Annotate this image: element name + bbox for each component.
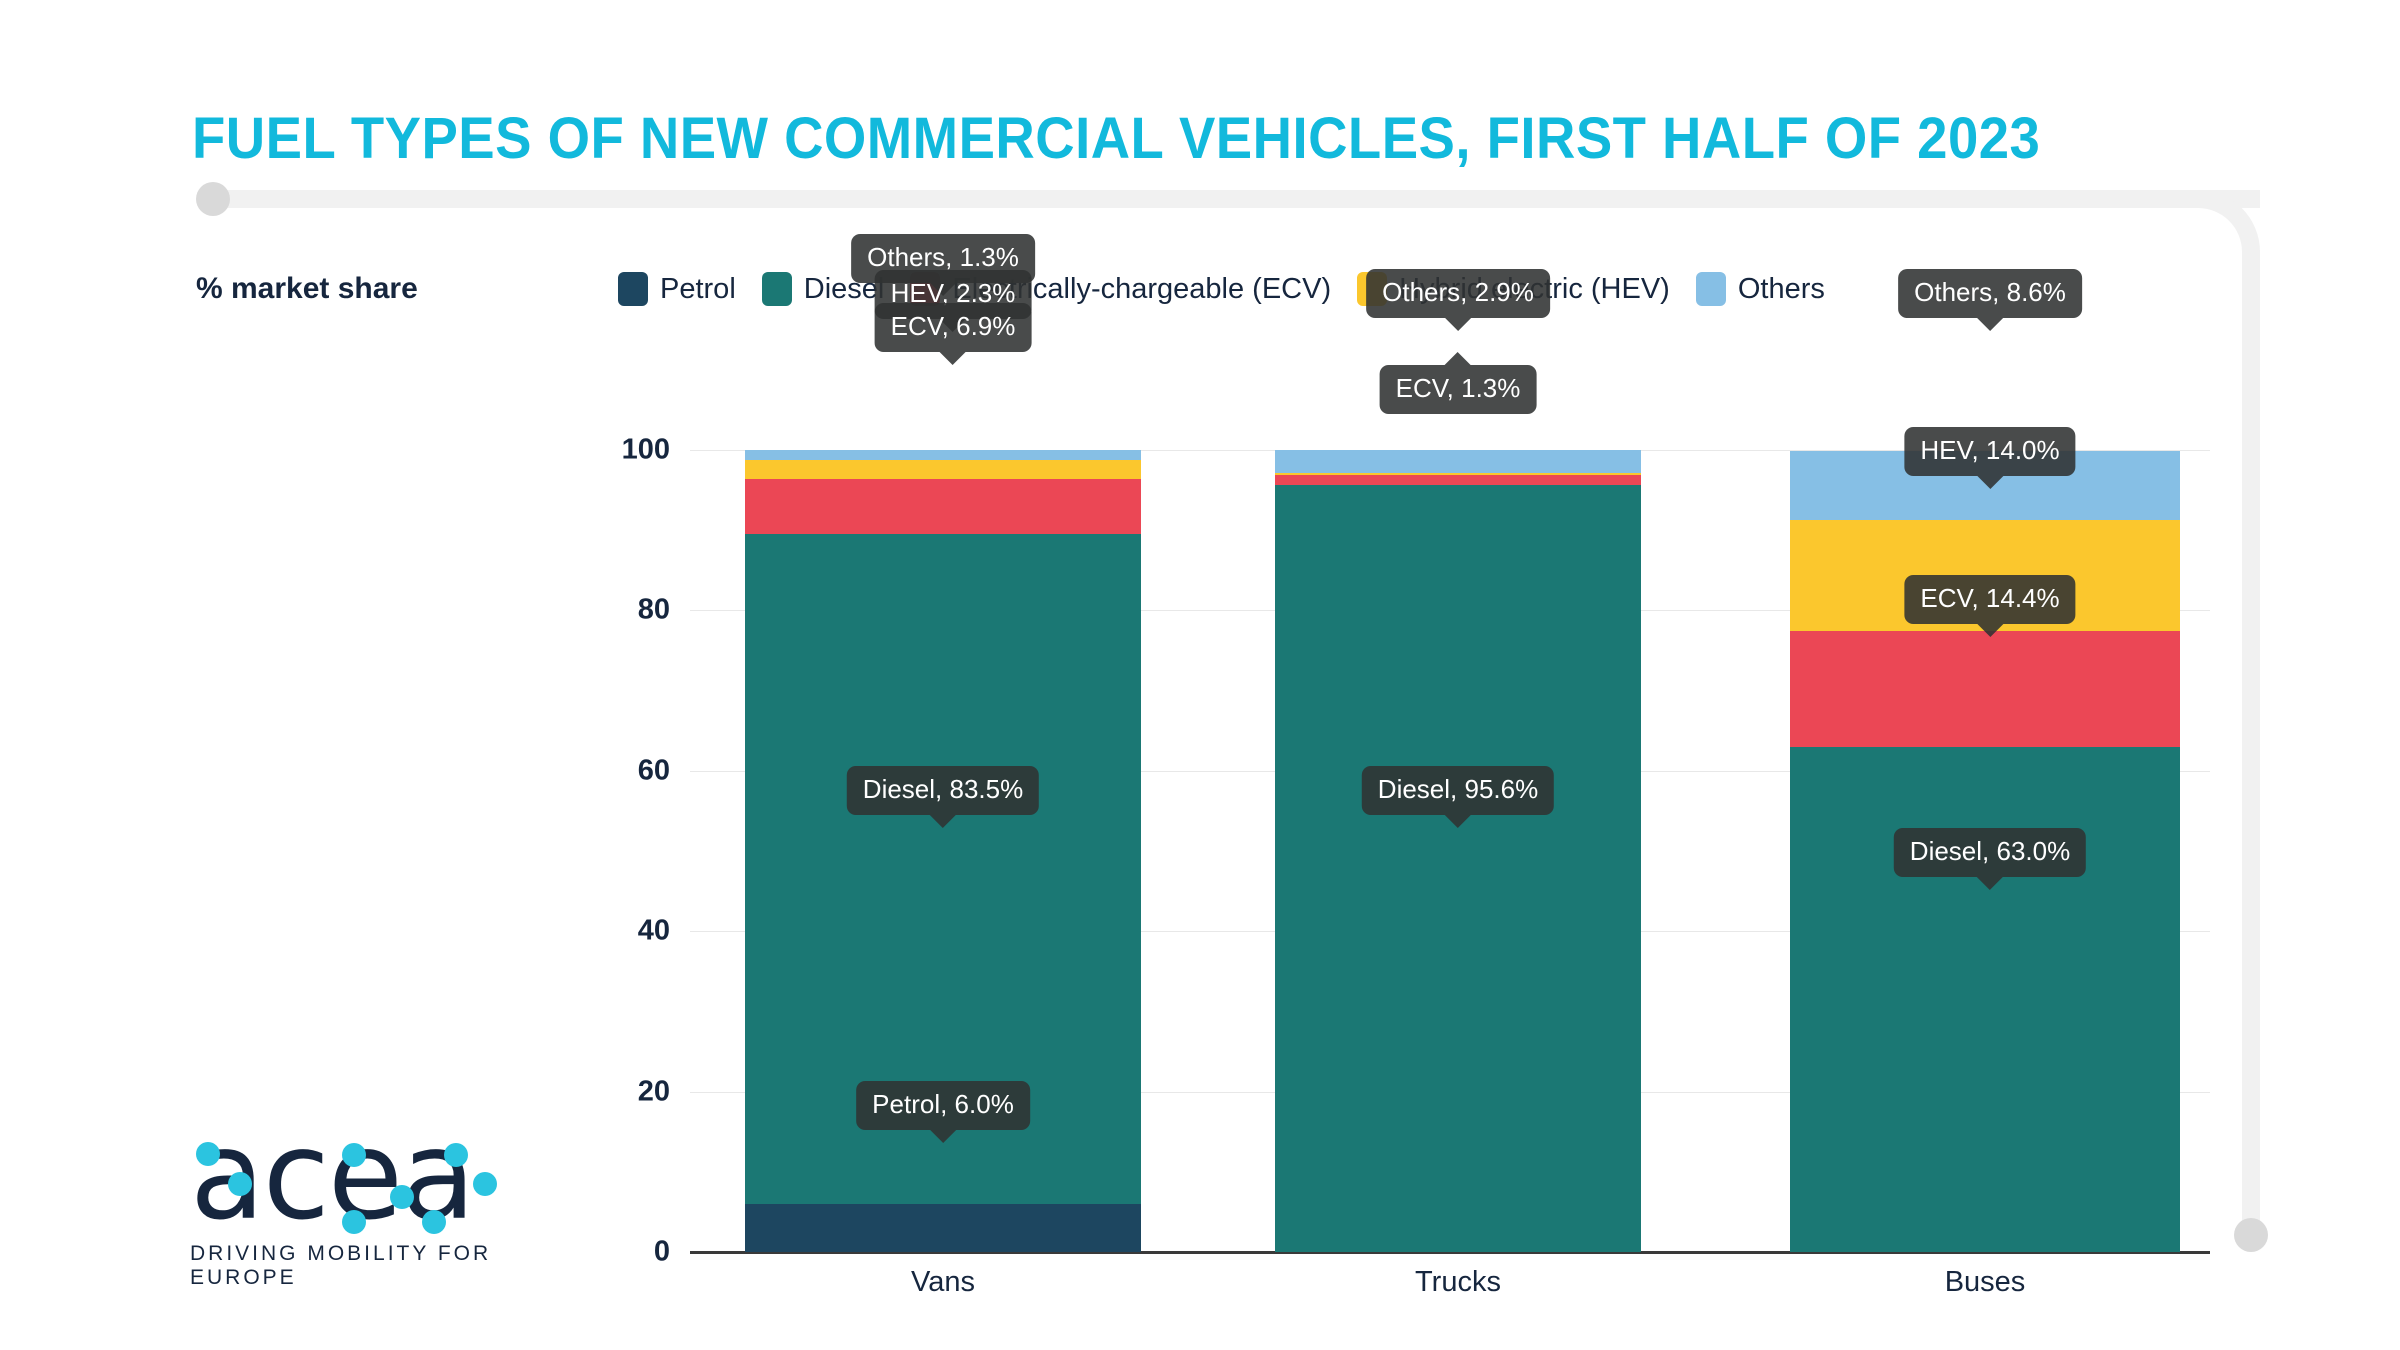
bar-trucks[interactable] bbox=[1275, 450, 1641, 1252]
tooltip-vans-diesel: Diesel, 83.5% bbox=[847, 766, 1039, 815]
bar-segment-buses-ecv[interactable] bbox=[1790, 631, 2180, 746]
legend-label: Others bbox=[1738, 275, 1825, 304]
ytick-label-40: 40 bbox=[560, 915, 670, 948]
ytick-label-0: 0 bbox=[560, 1236, 670, 1269]
tooltip-trucks-others: Others, 2.9% bbox=[1366, 269, 1550, 318]
category-label-vans: Vans bbox=[911, 1266, 975, 1299]
page-title: FUEL TYPES OF NEW COMMERCIAL VEHICLES, F… bbox=[192, 105, 2040, 172]
acea-logo-tagline: DRIVING MOBILITY FOR EUROPE bbox=[190, 1242, 540, 1290]
legend-item-petrol[interactable]: Petrol bbox=[618, 272, 736, 306]
axis-caption: % market share bbox=[196, 272, 418, 306]
tooltip-buses-ecv: ECV, 14.4% bbox=[1904, 575, 2075, 624]
category-label-buses: Buses bbox=[1945, 1266, 2026, 1299]
bar-segment-vans-ecv[interactable] bbox=[745, 479, 1141, 534]
logo-dot-icon bbox=[342, 1143, 366, 1167]
tooltip-trucks-ecv: ECV, 1.3% bbox=[1380, 365, 1537, 414]
logo-dot-icon bbox=[228, 1172, 252, 1196]
plot-area: 100 80 60 40 20 0 bbox=[690, 450, 2210, 1252]
tooltip-vans-petrol: Petrol, 6.0% bbox=[856, 1081, 1030, 1130]
chart-canvas: FUEL TYPES OF NEW COMMERCIAL VEHICLES, F… bbox=[0, 0, 2400, 1350]
decorative-frame-top bbox=[212, 190, 2260, 208]
ytick-label-80: 80 bbox=[560, 594, 670, 627]
ytick-label-100: 100 bbox=[560, 434, 670, 467]
legend-item-others[interactable]: Others bbox=[1696, 272, 1825, 306]
tooltip-buses-others: Others, 8.6% bbox=[1898, 269, 2082, 318]
decorative-dot-right bbox=[2234, 1218, 2268, 1252]
bar-segment-trucks-diesel[interactable] bbox=[1275, 485, 1641, 1252]
bar-segment-trucks-others[interactable] bbox=[1275, 450, 1641, 473]
decorative-dot-left bbox=[196, 182, 230, 216]
logo-dot-icon bbox=[390, 1185, 414, 1209]
decorative-frame-right bbox=[2242, 250, 2260, 1234]
ytick-label-20: 20 bbox=[560, 1075, 670, 1108]
chart-legend: Petrol Diesel Electrically-chargeable (E… bbox=[618, 272, 1851, 306]
bar-segment-vans-others[interactable] bbox=[745, 450, 1141, 460]
category-label-trucks: Trucks bbox=[1415, 1266, 1501, 1299]
logo-dot-icon bbox=[444, 1143, 468, 1167]
bar-segment-vans-petrol[interactable] bbox=[745, 1204, 1141, 1252]
bar-segment-trucks-ecv[interactable] bbox=[1275, 475, 1641, 485]
acea-logo: acea DRIVING MOBILITY FOR EUROPE bbox=[190, 1120, 540, 1290]
logo-dot-icon bbox=[196, 1142, 220, 1166]
legend-label: Petrol bbox=[660, 275, 736, 304]
tooltip-buses-hev: HEV, 14.0% bbox=[1904, 427, 2075, 476]
logo-dot-icon bbox=[473, 1172, 497, 1196]
logo-dot-icon bbox=[342, 1210, 366, 1234]
tooltip-buses-diesel: Diesel, 63.0% bbox=[1894, 828, 2086, 877]
legend-swatch-icon bbox=[618, 272, 648, 306]
legend-swatch-icon bbox=[1696, 272, 1726, 306]
ytick-label-60: 60 bbox=[560, 754, 670, 787]
logo-dot-icon bbox=[422, 1210, 446, 1234]
bar-segment-vans-hev[interactable] bbox=[745, 460, 1141, 478]
legend-swatch-icon bbox=[762, 272, 792, 306]
tooltip-trucks-diesel: Diesel, 95.6% bbox=[1362, 766, 1554, 815]
bar-segment-trucks-hev[interactable] bbox=[1275, 473, 1641, 475]
tooltip-vans-ecv: ECV, 6.9% bbox=[875, 303, 1032, 352]
bar-segment-buses-diesel[interactable] bbox=[1790, 747, 2180, 1252]
